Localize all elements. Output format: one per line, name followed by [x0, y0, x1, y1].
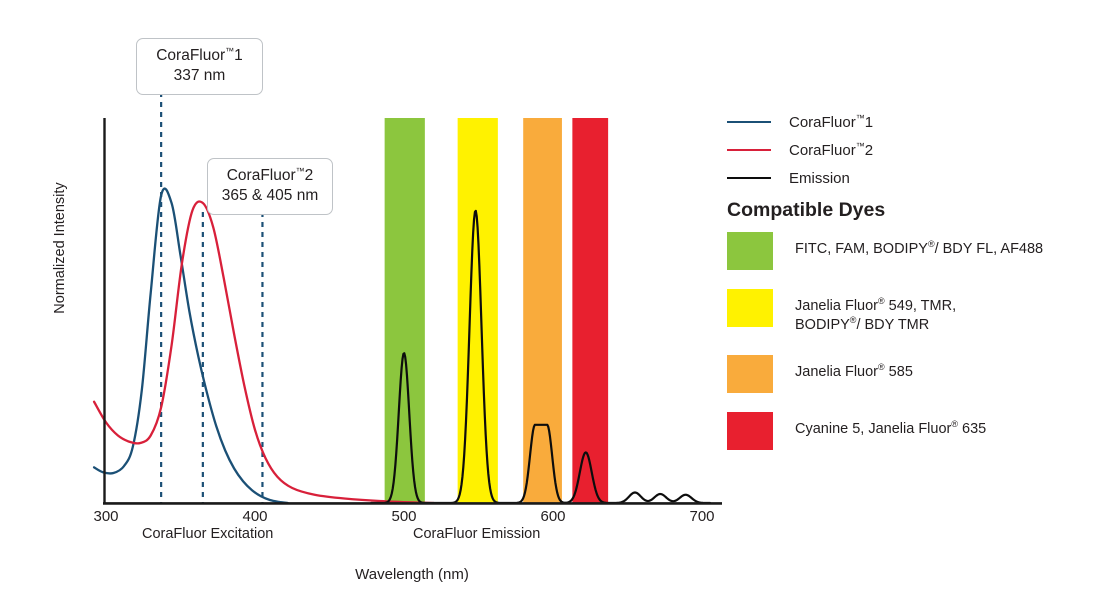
- x-tick-400: 400: [225, 508, 285, 525]
- y-axis-title: Normalized Intensity: [52, 148, 68, 348]
- dye-label-line: BODIPY®/ BDY TMR: [795, 316, 956, 335]
- legend-item-label: CoraFluor™1: [789, 114, 873, 131]
- legend-item-2: Emission: [727, 164, 1097, 192]
- emission-band-3: [572, 118, 608, 503]
- callout-corafluor-2: CoraFluor™2 365 & 405 nm: [207, 158, 333, 215]
- series-legend: CoraFluor™1CoraFluor™2Emission: [727, 108, 1097, 192]
- dye-label-line: Cyanine 5, Janelia Fluor® 635: [795, 420, 986, 439]
- x-tick-600: 600: [523, 508, 583, 525]
- callout-1-suffix: 1: [234, 47, 243, 64]
- registered-icon: ®: [878, 362, 885, 372]
- callout-2-name: CoraFluor: [227, 167, 296, 184]
- legend-item-label: CoraFluor™2: [789, 142, 873, 159]
- excitation-guide-lines: [161, 92, 262, 503]
- callout-2-title: CoraFluor™2: [220, 166, 320, 186]
- emission-band-group: [385, 118, 609, 503]
- legend-item-1: CoraFluor™2: [727, 136, 1097, 164]
- dye-item-label: FITC, FAM, BODIPY®/ BDY FL, AF488: [795, 232, 1043, 259]
- registered-icon: ®: [928, 239, 935, 249]
- dye-item-label: Cyanine 5, Janelia Fluor® 635: [795, 412, 986, 439]
- legend-line-swatch-icon: [727, 177, 771, 179]
- legend-line-swatch-icon: [727, 149, 771, 151]
- dye-item-2: Janelia Fluor® 585: [727, 355, 1102, 393]
- spectra-chart: CoraFluor™1 337 nm CoraFluor™2 365 & 405…: [0, 0, 1110, 612]
- legend-item-label: Emission: [789, 170, 850, 187]
- callout-2-suffix: 2: [305, 167, 314, 184]
- compatible-dyes-title: Compatible Dyes: [727, 199, 885, 222]
- legend-line-swatch-icon: [727, 121, 771, 123]
- dye-label-line: Janelia Fluor® 549, TMR,: [795, 297, 956, 316]
- x-tick-500: 500: [374, 508, 434, 525]
- callout-2-value: 365 & 405 nm: [220, 186, 320, 206]
- x-axis-section-excitation: CoraFluor Excitation: [142, 526, 273, 542]
- dye-label-line: FITC, FAM, BODIPY®/ BDY FL, AF488: [795, 240, 1043, 259]
- dye-item-1: Janelia Fluor® 549, TMR,BODIPY®/ BDY TMR: [727, 289, 1102, 336]
- registered-icon: ®: [878, 296, 885, 306]
- x-tick-700: 700: [672, 508, 732, 525]
- curve-CoraFluor1: [94, 189, 288, 503]
- trademark-icon: ™: [225, 46, 234, 56]
- dye-color-swatch: [727, 289, 773, 327]
- trademark-icon: ™: [856, 113, 865, 123]
- registered-icon: ®: [850, 315, 857, 325]
- dye-item-0: FITC, FAM, BODIPY®/ BDY FL, AF488: [727, 232, 1102, 270]
- dye-color-swatch: [727, 232, 773, 270]
- dye-color-swatch: [727, 355, 773, 393]
- trademark-icon: ™: [296, 166, 305, 176]
- emission-band-2: [523, 118, 562, 503]
- registered-icon: ®: [951, 419, 958, 429]
- dye-item-label: Janelia Fluor® 549, TMR,BODIPY®/ BDY TMR: [795, 289, 956, 336]
- callout-corafluor-1: CoraFluor™1 337 nm: [136, 38, 263, 95]
- compatible-dyes-list: FITC, FAM, BODIPY®/ BDY FL, AF488Janelia…: [727, 232, 1102, 469]
- dye-item-3: Cyanine 5, Janelia Fluor® 635: [727, 412, 1102, 450]
- x-tick-300: 300: [76, 508, 136, 525]
- dye-item-label: Janelia Fluor® 585: [795, 355, 913, 382]
- x-axis-title: Wavelength (nm): [0, 566, 824, 583]
- legend-item-0: CoraFluor™1: [727, 108, 1097, 136]
- dye-color-swatch: [727, 412, 773, 450]
- callout-1-name: CoraFluor: [156, 47, 225, 64]
- trademark-icon: ™: [856, 141, 865, 151]
- x-axis-section-emission: CoraFluor Emission: [413, 526, 540, 542]
- callout-1-value: 337 nm: [149, 66, 250, 86]
- emission-band-0: [385, 118, 425, 503]
- dye-label-line: Janelia Fluor® 585: [795, 363, 913, 382]
- callout-1-title: CoraFluor™1: [149, 46, 250, 66]
